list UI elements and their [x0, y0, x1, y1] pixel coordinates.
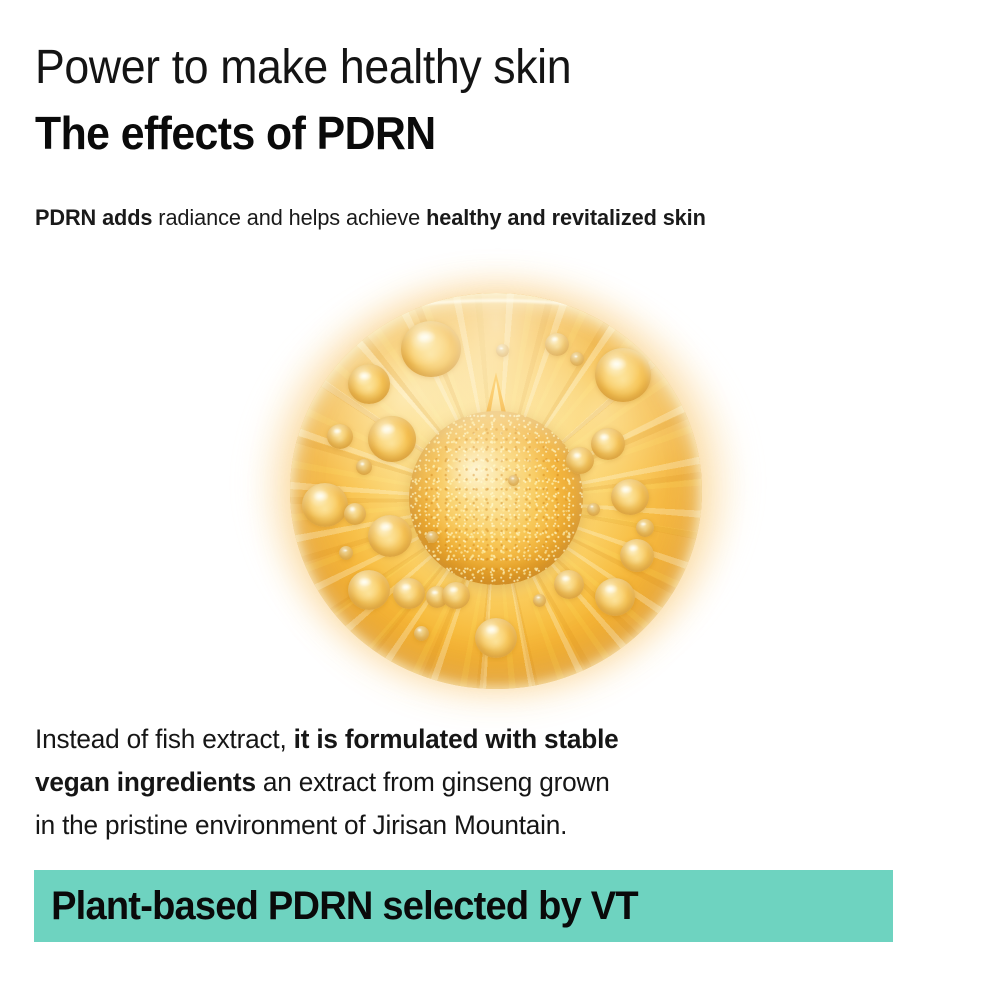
body-line-3-plain: in the pristine environment of Jirisan M…: [35, 810, 567, 840]
body-line-3: in the pristine environment of Jirisan M…: [35, 804, 889, 847]
highlight-banner: Plant-based PDRN selected by VT: [34, 870, 893, 942]
body-line-2: vegan ingredients an extract from ginsen…: [35, 761, 889, 804]
body-line-1-bold: it is formulated with stable: [294, 724, 619, 754]
subheading-trail-bold: healthy and revitalized skin: [426, 205, 706, 230]
subheading: PDRN adds radiance and helps achieve hea…: [35, 203, 952, 233]
headline-block: Power to make healthy skin The effects o…: [35, 40, 965, 160]
hero-droplet-graphic: [248, 265, 748, 695]
body-line-2-bold: vegan ingredients: [35, 767, 256, 797]
infographic-page: Power to make healthy skin The effects o…: [0, 0, 1000, 1000]
body-line-1: Instead of fish extract, it is formulate…: [35, 718, 889, 761]
subheading-lead-bold: PDRN adds: [35, 205, 152, 230]
golden-orb: [290, 293, 702, 689]
banner-text: Plant-based PDRN selected by VT: [34, 884, 638, 929]
body-line-2-plain: an extract from ginseng grown: [256, 767, 610, 797]
body-line-1-plain: Instead of fish extract,: [35, 724, 294, 754]
page-title: The effects of PDRN: [35, 106, 900, 160]
body-paragraph: Instead of fish extract, it is formulate…: [35, 718, 889, 847]
eyebrow-heading: Power to make healthy skin: [35, 40, 900, 96]
orb-top-edge-highlight: [315, 299, 678, 381]
subheading-middle: radiance and helps achieve: [152, 205, 426, 230]
